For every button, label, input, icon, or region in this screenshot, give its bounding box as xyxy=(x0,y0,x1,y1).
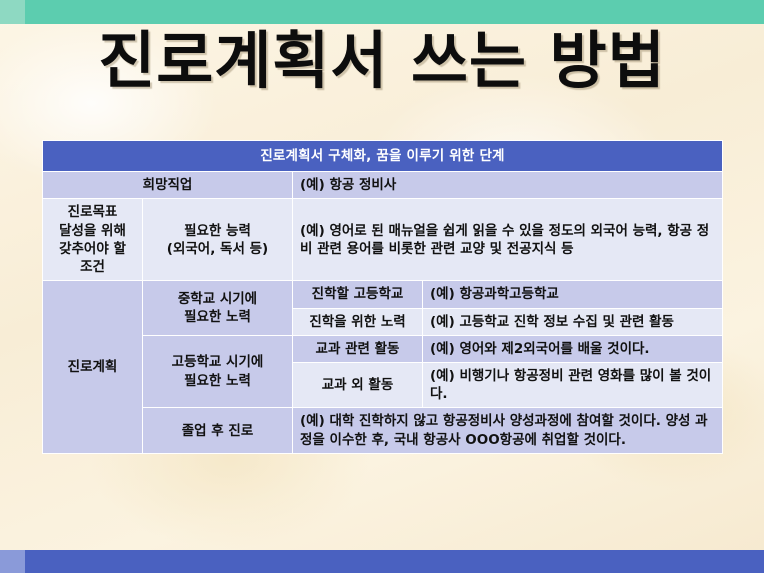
top-accent-bar-left xyxy=(0,0,25,24)
after-graduation-label: 졸업 후 진로 xyxy=(143,408,293,453)
slide-canvas: 진로계획서 쓰는 방법 진로계획서 구체화, 꿈을 이루기 위한 단계 희망직업… xyxy=(0,0,764,573)
page-title: 진로계획서 쓰는 방법 xyxy=(0,26,764,95)
table-row-middle-school-1: 진로계획 중학교 시기에 필요한 노력 진학할 고등학교 (예) 항공과학고등학… xyxy=(43,281,723,308)
table-row-conditions: 진로목표 달성을 위해 갖추어야 할 조건 필요한 능력 (외국어, 독서 등)… xyxy=(43,199,723,281)
table-row-header: 진로계획서 구체화, 꿈을 이루기 위한 단계 xyxy=(43,141,723,172)
bottom-accent-bar-left xyxy=(0,550,25,573)
career-plan-label: 진로계획 xyxy=(43,281,143,454)
desired-job-label: 희망직업 xyxy=(43,172,293,199)
career-plan-table: 진로계획서 구체화, 꿈을 이루기 위한 단계 희망직업 (예) 항공 정비사 … xyxy=(42,140,723,454)
subject-activity-label: 교과 관련 활동 xyxy=(293,335,423,362)
goal-condition-label: 진로목표 달성을 위해 갖추어야 할 조건 xyxy=(43,199,143,281)
extracurricular-label: 교과 외 활동 xyxy=(293,362,423,407)
admission-effort-label: 진학을 위한 노력 xyxy=(293,308,423,335)
top-accent-bar xyxy=(25,0,764,24)
table-header-title: 진로계획서 구체화, 꿈을 이루기 위한 단계 xyxy=(43,141,723,172)
extracurricular-value: (예) 비행기나 항공정비 관련 영화를 많이 볼 것이다. xyxy=(423,362,723,407)
table-row-after-graduation: 졸업 후 진로 (예) 대학 진학하지 않고 항공정비사 양성과정에 참여할 것… xyxy=(43,408,723,453)
target-highschool-label: 진학할 고등학교 xyxy=(293,281,423,308)
table-row-desired-job: 희망직업 (예) 항공 정비사 xyxy=(43,172,723,199)
after-graduation-value: (예) 대학 진학하지 않고 항공정비사 양성과정에 참여할 것이다. 양성 과… xyxy=(293,408,723,453)
subject-activity-value: (예) 영어와 제2외국어를 배울 것이다. xyxy=(423,335,723,362)
admission-effort-value: (예) 고등학교 진학 정보 수집 및 관련 활동 xyxy=(423,308,723,335)
high-school-effort-label: 고등학교 시기에 필요한 노력 xyxy=(143,335,293,408)
bottom-accent-bar xyxy=(25,550,764,573)
required-ability-value: (예) 영어로 된 매뉴얼을 쉽게 읽을 수 있을 정도의 외국어 능력, 항공… xyxy=(293,199,723,281)
target-highschool-value: (예) 항공과학고등학교 xyxy=(423,281,723,308)
desired-job-value: (예) 항공 정비사 xyxy=(293,172,723,199)
table-row-high-school-1: 고등학교 시기에 필요한 노력 교과 관련 활동 (예) 영어와 제2외국어를 … xyxy=(43,335,723,362)
required-ability-label: 필요한 능력 (외국어, 독서 등) xyxy=(143,199,293,281)
middle-school-effort-label: 중학교 시기에 필요한 노력 xyxy=(143,281,293,335)
